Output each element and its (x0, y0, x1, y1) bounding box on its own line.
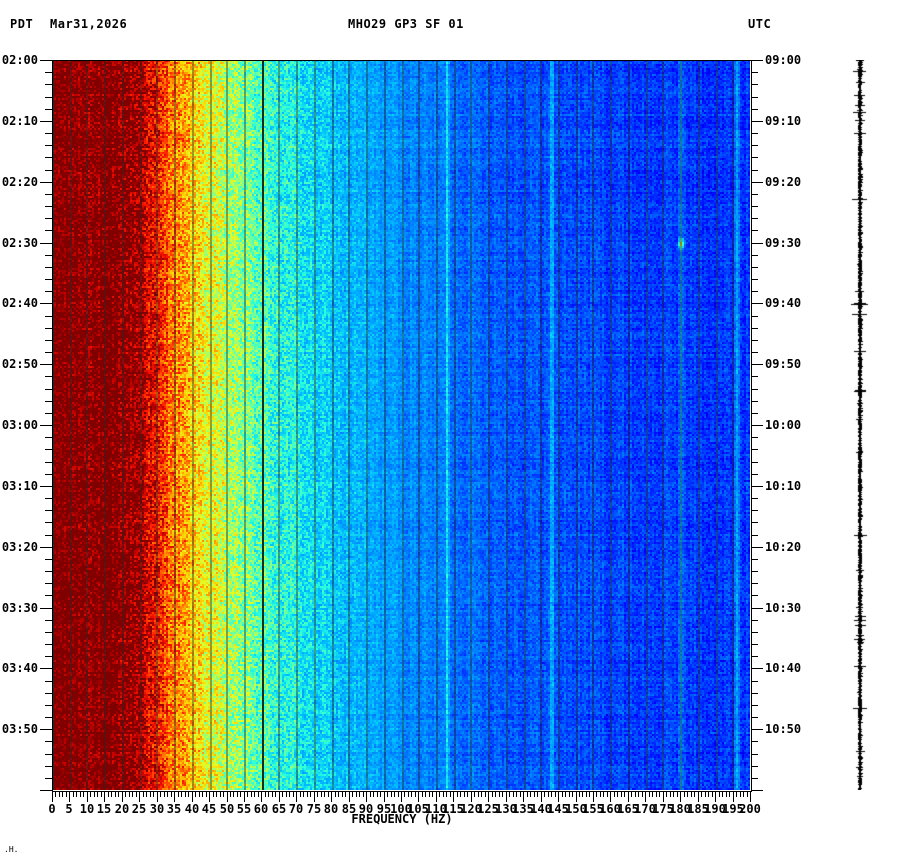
freq-tick-minor (569, 791, 570, 797)
freq-tick-minor (282, 791, 283, 797)
freq-tick-major (366, 791, 367, 802)
time-tick-minor (45, 157, 52, 158)
time-tick-major (751, 243, 763, 244)
freq-tick-minor (356, 791, 357, 797)
freq-tick-major (314, 791, 315, 802)
time-tick-minor (751, 741, 758, 742)
freq-tick-minor (635, 791, 636, 797)
freq-tick-minor (164, 791, 165, 797)
time-tick-minor (45, 583, 52, 584)
freq-tick-major (174, 791, 175, 802)
freq-tick-minor (614, 791, 615, 797)
time-tick-minor (751, 766, 758, 767)
freq-tick-minor (652, 791, 653, 797)
time-tick-minor (45, 693, 52, 694)
time-tick-minor (751, 413, 758, 414)
time-tick-minor (751, 401, 758, 402)
freq-tick-minor (237, 791, 238, 797)
freq-tick-major (645, 791, 646, 802)
freq-tick-minor (551, 791, 552, 797)
freq-tick-minor (617, 791, 618, 797)
freq-tick-minor (656, 791, 657, 797)
time-tick-major (751, 790, 763, 791)
time-label-pdt: 02:40 (2, 297, 38, 309)
freq-tick-minor (94, 791, 95, 797)
corner-artifact: .H. (4, 845, 18, 854)
page-title: MHO29 GP3 SF 01 (348, 17, 464, 31)
time-tick-minor (751, 133, 758, 134)
time-tick-minor (45, 194, 52, 195)
time-tick-minor (751, 279, 758, 280)
freq-tick-minor (495, 791, 496, 797)
freq-tick-minor (199, 791, 200, 797)
freq-tick-minor (565, 791, 566, 797)
time-tick-major (751, 121, 763, 122)
freq-tick-minor (607, 791, 608, 797)
freq-tick-minor (485, 791, 486, 797)
freq-tick-minor (62, 791, 63, 797)
time-tick-minor (45, 535, 52, 536)
freq-tick-minor (380, 791, 381, 797)
freq-tick-major (418, 791, 419, 802)
freq-tick-minor (387, 791, 388, 797)
time-tick-minor (751, 620, 758, 621)
freq-tick-minor (342, 791, 343, 797)
freq-tick-minor (153, 791, 154, 797)
freq-tick-minor (694, 791, 695, 797)
freq-tick-minor (118, 791, 119, 797)
freq-tick-minor (450, 791, 451, 797)
time-tick-minor (45, 72, 52, 73)
freq-tick-minor (76, 791, 77, 797)
freq-tick-minor (544, 791, 545, 797)
time-tick-major (751, 668, 763, 669)
freq-tick-major (331, 791, 332, 802)
freq-tick-minor (603, 791, 604, 797)
freq-tick-minor (398, 791, 399, 797)
time-tick-minor (45, 656, 52, 657)
freq-tick-minor (90, 791, 91, 797)
freq-tick-major (122, 791, 123, 802)
freq-tick-minor (708, 791, 709, 797)
freq-tick-major (192, 791, 193, 802)
freq-tick-minor (621, 791, 622, 797)
time-label-pdt: 03:30 (2, 602, 38, 614)
time-label-utc: 10:40 (765, 662, 801, 674)
time-tick-minor (45, 352, 52, 353)
freq-tick-minor (589, 791, 590, 797)
freq-tick-minor (740, 791, 741, 797)
freq-tick-minor (213, 791, 214, 797)
time-tick-minor (45, 571, 52, 572)
freq-tick-minor (373, 791, 374, 797)
freq-tick-minor (83, 791, 84, 797)
freq-tick-minor (562, 791, 563, 797)
freq-tick-minor (649, 791, 650, 797)
freq-tick-minor (425, 791, 426, 797)
time-tick-minor (751, 522, 758, 523)
time-tick-minor (45, 510, 52, 511)
spectrogram-canvas[interactable] (52, 60, 750, 790)
freq-tick-minor (394, 791, 395, 797)
time-tick-minor (45, 230, 52, 231)
freq-tick-minor (377, 791, 378, 797)
time-tick-minor (45, 206, 52, 207)
freq-tick-minor (258, 791, 259, 797)
freq-tick-major (104, 791, 105, 802)
time-label-utc: 10:50 (765, 723, 801, 735)
time-tick-major (40, 425, 52, 426)
timezone-label-left: PDT (10, 17, 33, 31)
time-tick-minor (45, 97, 52, 98)
freq-tick-minor (230, 791, 231, 797)
freq-tick-minor (631, 791, 632, 797)
freq-tick-major (715, 791, 716, 802)
freq-tick-minor (293, 791, 294, 797)
freq-tick-major (593, 791, 594, 802)
time-tick-minor (751, 218, 758, 219)
time-tick-minor (751, 498, 758, 499)
freq-tick-minor (97, 791, 98, 797)
freq-tick-minor (701, 791, 702, 797)
freq-tick-minor (146, 791, 147, 797)
freq-tick-minor (59, 791, 60, 797)
time-tick-minor (45, 413, 52, 414)
time-tick-minor (45, 255, 52, 256)
freq-tick-minor (666, 791, 667, 797)
time-tick-major (751, 608, 763, 609)
freq-tick-minor (233, 791, 234, 797)
freq-tick-minor (108, 791, 109, 797)
time-label-utc: 10:20 (765, 541, 801, 553)
freq-tick-minor (492, 791, 493, 797)
time-tick-minor (45, 778, 52, 779)
freq-tick-major (261, 791, 262, 802)
time-tick-minor (751, 705, 758, 706)
freq-tick-minor (726, 791, 727, 797)
freq-tick-minor (411, 791, 412, 797)
time-tick-minor (45, 559, 52, 560)
time-tick-minor (751, 145, 758, 146)
time-label-pdt: 03:50 (2, 723, 38, 735)
freq-tick-minor (303, 791, 304, 797)
freq-tick-minor (178, 791, 179, 797)
time-label-pdt: 02:30 (2, 237, 38, 249)
freq-tick-minor (642, 791, 643, 797)
freq-tick-minor (638, 791, 639, 797)
freq-tick-minor (443, 791, 444, 797)
time-tick-minor (45, 328, 52, 329)
time-tick-major (751, 303, 763, 304)
freq-tick-minor (55, 791, 56, 797)
freq-tick-minor (286, 791, 287, 797)
freq-tick-minor (150, 791, 151, 797)
time-tick-minor (45, 170, 52, 171)
freq-tick-major (610, 791, 611, 802)
freq-tick-minor (457, 791, 458, 797)
freq-tick-minor (195, 791, 196, 797)
time-tick-minor (751, 109, 758, 110)
time-tick-minor (751, 72, 758, 73)
freq-tick-minor (474, 791, 475, 797)
time-label-utc: 09:50 (765, 358, 801, 370)
freq-tick-major (541, 791, 542, 802)
time-tick-major (40, 243, 52, 244)
freq-tick-minor (719, 791, 720, 797)
freq-tick-minor (534, 791, 535, 797)
freq-tick-minor (572, 791, 573, 797)
freq-tick-minor (66, 791, 67, 797)
time-tick-minor (751, 559, 758, 560)
date-label: Mar31,2026 (50, 17, 127, 31)
freq-tick-minor (317, 791, 318, 797)
header-bar: PDT Mar31,2026 MHO29 GP3 SF 01 UTC (0, 17, 902, 33)
time-tick-minor (45, 754, 52, 755)
freq-tick-minor (80, 791, 81, 797)
freq-tick-minor (705, 791, 706, 797)
time-label-utc: 09:10 (765, 115, 801, 127)
time-tick-major (40, 486, 52, 487)
time-tick-minor (751, 230, 758, 231)
time-tick-minor (45, 717, 52, 718)
freq-tick-minor (736, 791, 737, 797)
helicorder-trace-canvas (840, 60, 880, 790)
time-tick-minor (751, 376, 758, 377)
time-tick-major (40, 121, 52, 122)
freq-tick-major (558, 791, 559, 802)
time-tick-minor (45, 389, 52, 390)
freq-tick-minor (624, 791, 625, 797)
freq-tick-minor (181, 791, 182, 797)
time-tick-major (751, 364, 763, 365)
time-label-pdt: 03:40 (2, 662, 38, 674)
freq-tick-major (52, 791, 53, 802)
freq-tick-minor (464, 791, 465, 797)
time-tick-minor (45, 376, 52, 377)
freq-tick-major (733, 791, 734, 802)
time-tick-minor (751, 352, 758, 353)
freq-tick-minor (338, 791, 339, 797)
freq-tick-minor (202, 791, 203, 797)
spectrogram-plot[interactable] (52, 60, 750, 790)
time-tick-minor (45, 279, 52, 280)
freq-tick-major (523, 791, 524, 802)
time-tick-minor (751, 340, 758, 341)
time-tick-minor (751, 316, 758, 317)
time-tick-minor (751, 644, 758, 645)
freq-tick-minor (432, 791, 433, 797)
time-tick-major (40, 668, 52, 669)
time-tick-minor (751, 474, 758, 475)
time-tick-major (40, 729, 52, 730)
time-tick-major (40, 364, 52, 365)
freq-tick-minor (415, 791, 416, 797)
freq-tick-minor (530, 791, 531, 797)
freq-tick-minor (220, 791, 221, 797)
freq-tick-major (157, 791, 158, 802)
freq-tick-minor (446, 791, 447, 797)
freq-tick-minor (185, 791, 186, 797)
time-tick-major (40, 60, 52, 61)
time-tick-minor (45, 133, 52, 134)
time-tick-minor (45, 84, 52, 85)
freq-tick-major (436, 791, 437, 802)
time-tick-minor (751, 717, 758, 718)
freq-tick-major (698, 791, 699, 802)
time-tick-minor (45, 595, 52, 596)
time-tick-minor (45, 474, 52, 475)
freq-tick-minor (743, 791, 744, 797)
freq-tick-major (244, 791, 245, 802)
time-label-utc: 10:10 (765, 480, 801, 492)
time-tick-major (751, 60, 763, 61)
freq-tick-minor (555, 791, 556, 797)
freq-tick-minor (111, 791, 112, 797)
freq-tick-minor (129, 791, 130, 797)
freq-tick-minor (363, 791, 364, 797)
time-tick-major (40, 303, 52, 304)
freq-tick-minor (265, 791, 266, 797)
freq-tick-minor (516, 791, 517, 797)
time-tick-minor (751, 255, 758, 256)
time-tick-minor (45, 109, 52, 110)
freq-tick-minor (115, 791, 116, 797)
time-label-pdt: 02:10 (2, 115, 38, 127)
freq-tick-minor (687, 791, 688, 797)
time-label-utc: 10:00 (765, 419, 801, 431)
freq-tick-major (296, 791, 297, 802)
time-tick-minor (45, 267, 52, 268)
freq-tick-major (139, 791, 140, 802)
freq-tick-major (663, 791, 664, 802)
time-tick-minor (45, 449, 52, 450)
time-tick-major (40, 608, 52, 609)
time-tick-minor (45, 145, 52, 146)
time-tick-minor (45, 401, 52, 402)
timezone-label-right: UTC (748, 17, 771, 31)
freq-tick-minor (747, 791, 748, 797)
time-tick-minor (751, 437, 758, 438)
time-tick-minor (45, 705, 52, 706)
freq-tick-major (628, 791, 629, 802)
time-label-utc: 09:40 (765, 297, 801, 309)
time-tick-minor (751, 84, 758, 85)
freq-tick-minor (289, 791, 290, 797)
freq-tick-minor (247, 791, 248, 797)
freq-tick-minor (73, 791, 74, 797)
time-label-utc: 09:00 (765, 54, 801, 66)
time-tick-minor (751, 571, 758, 572)
freq-tick-minor (171, 791, 172, 797)
time-tick-minor (751, 328, 758, 329)
time-tick-minor (751, 157, 758, 158)
freq-tick-minor (670, 791, 671, 797)
freq-tick-minor (460, 791, 461, 797)
freq-tick-minor (586, 791, 587, 797)
freq-tick-minor (143, 791, 144, 797)
freq-tick-minor (582, 791, 583, 797)
freq-tick-minor (352, 791, 353, 797)
time-tick-minor (45, 340, 52, 341)
time-label-pdt: 02:20 (2, 176, 38, 188)
time-label-pdt: 02:50 (2, 358, 38, 370)
time-tick-minor (751, 681, 758, 682)
time-label-utc: 09:30 (765, 237, 801, 249)
freq-tick-minor (408, 791, 409, 797)
time-tick-minor (751, 267, 758, 268)
time-tick-major (40, 547, 52, 548)
freq-tick-major (471, 791, 472, 802)
time-tick-major (751, 547, 763, 548)
freq-tick-minor (328, 791, 329, 797)
time-tick-major (751, 182, 763, 183)
time-label-pdt: 03:10 (2, 480, 38, 492)
time-tick-minor (45, 620, 52, 621)
freq-tick-major (680, 791, 681, 802)
time-tick-minor (751, 389, 758, 390)
time-tick-minor (751, 449, 758, 450)
freq-tick-minor (391, 791, 392, 797)
freq-tick-minor (345, 791, 346, 797)
time-label-pdt: 03:00 (2, 419, 38, 431)
time-tick-minor (45, 291, 52, 292)
freq-tick-minor (251, 791, 252, 797)
freq-tick-minor (513, 791, 514, 797)
freq-tick-minor (370, 791, 371, 797)
freq-tick-major (453, 791, 454, 802)
freq-tick-minor (600, 791, 601, 797)
time-tick-minor (751, 583, 758, 584)
time-tick-minor (45, 462, 52, 463)
helicorder-trace-panel (840, 60, 880, 790)
freq-tick-minor (240, 791, 241, 797)
freq-tick-minor (527, 791, 528, 797)
time-axis-left-pdt: 02:0002:1002:2002:3002:4002:5003:0003:10… (0, 60, 52, 790)
freq-tick-minor (499, 791, 500, 797)
freq-tick-minor (300, 791, 301, 797)
time-tick-minor (45, 644, 52, 645)
freq-tick-minor (307, 791, 308, 797)
freq-tick-minor (167, 791, 168, 797)
time-tick-minor (751, 778, 758, 779)
freq-tick-minor (579, 791, 580, 797)
freq-tick-minor (275, 791, 276, 797)
freq-tick-minor (481, 791, 482, 797)
freq-tick-major (506, 791, 507, 802)
freq-tick-minor (335, 791, 336, 797)
freq-tick-minor (537, 791, 538, 797)
freq-tick-minor (206, 791, 207, 797)
time-tick-minor (751, 656, 758, 657)
time-tick-minor (45, 766, 52, 767)
freq-tick-major (750, 791, 751, 802)
time-tick-minor (751, 595, 758, 596)
freq-tick-minor (404, 791, 405, 797)
freq-tick-minor (321, 791, 322, 797)
frequency-axis-title: FREQUENCY (HZ) (52, 812, 752, 826)
freq-tick-minor (132, 791, 133, 797)
time-tick-minor (751, 693, 758, 694)
freq-tick-minor (160, 791, 161, 797)
time-label-pdt: 02:00 (2, 54, 38, 66)
time-tick-major (40, 182, 52, 183)
freq-tick-major (87, 791, 88, 802)
time-tick-minor (45, 632, 52, 633)
time-tick-minor (45, 741, 52, 742)
time-tick-minor (751, 632, 758, 633)
time-tick-minor (45, 437, 52, 438)
time-tick-minor (45, 316, 52, 317)
